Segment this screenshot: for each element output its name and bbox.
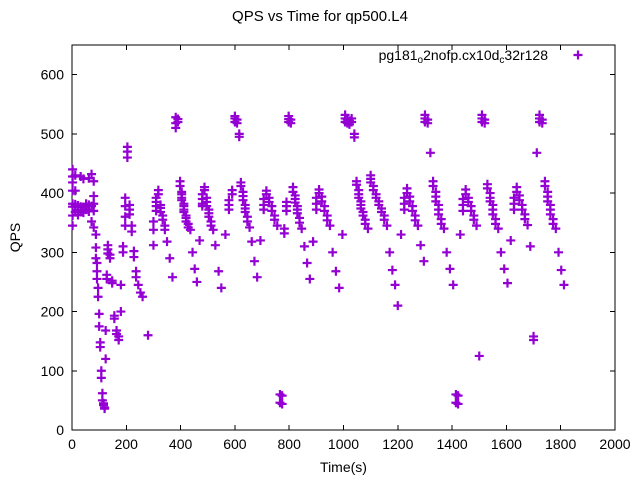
y-tick-label: 0 <box>56 422 64 438</box>
data-point <box>280 229 289 238</box>
x-tick-label: 800 <box>278 436 302 452</box>
data-point <box>101 354 110 363</box>
scatter-plot: 0200400600800100012001400160018002000 01… <box>0 0 640 480</box>
data-point <box>500 264 509 273</box>
data-point <box>214 267 223 276</box>
data-point <box>303 258 312 267</box>
data-point <box>116 280 125 289</box>
data-point <box>195 236 204 245</box>
y-tick-label: 200 <box>41 304 65 320</box>
x-tick-label: 0 <box>68 436 76 452</box>
data-point <box>426 148 435 157</box>
data-point <box>253 273 262 282</box>
y-tick-label: 400 <box>41 185 65 201</box>
data-point <box>461 185 470 194</box>
x-tick-label: 1400 <box>437 436 468 452</box>
data-point <box>192 277 201 286</box>
data-point <box>188 248 197 257</box>
x-tick-label: 200 <box>115 436 139 452</box>
data-point <box>129 253 138 262</box>
data-point <box>557 266 566 275</box>
data-point <box>496 248 505 257</box>
data-point <box>335 283 344 292</box>
data-point <box>532 148 541 157</box>
data-point <box>506 236 515 245</box>
data-point <box>397 230 406 239</box>
data-point <box>92 274 101 283</box>
data-point <box>176 181 185 190</box>
data-point <box>526 242 535 251</box>
data-point <box>190 264 199 273</box>
y-tick-label: 500 <box>41 126 65 142</box>
data-point <box>419 257 428 266</box>
data-point <box>256 236 265 245</box>
chart-figure: QPS vs Time for qp500.L4 020040060080010… <box>0 0 640 480</box>
data-point <box>97 373 106 382</box>
x-tick-label: 1000 <box>328 436 359 452</box>
data-point <box>132 273 141 282</box>
data-point <box>475 351 484 360</box>
legend-entry-label: pg181o2nofp.cx10dc32r128 <box>379 47 549 66</box>
data-point <box>416 241 425 250</box>
data-point <box>445 264 454 273</box>
data-point <box>456 230 465 239</box>
data-point <box>331 267 340 276</box>
data-point <box>512 183 521 192</box>
data-point-group <box>68 110 568 413</box>
data-point <box>385 248 394 257</box>
data-point <box>250 257 259 266</box>
data-point <box>123 142 132 151</box>
data-point <box>300 242 309 251</box>
data-point <box>338 230 347 239</box>
data-point <box>388 266 397 275</box>
data-point <box>92 258 101 267</box>
x-tick-label: 400 <box>169 436 193 452</box>
data-point <box>165 254 174 263</box>
data-point <box>449 280 458 289</box>
data-point <box>247 237 256 246</box>
y-tick-label: 100 <box>41 363 65 379</box>
data-point <box>328 248 337 257</box>
data-point <box>163 237 172 246</box>
data-point <box>168 273 177 282</box>
data-point <box>92 267 101 276</box>
data-point <box>221 230 230 239</box>
data-point <box>305 274 314 283</box>
data-point <box>391 280 400 289</box>
x-tick-label: 1800 <box>545 436 576 452</box>
data-point <box>217 283 226 292</box>
data-point <box>94 292 103 301</box>
x-tick-label: 1200 <box>382 436 413 452</box>
legend-marker-plus-icon <box>574 51 583 60</box>
x-tick-label: 1600 <box>491 436 522 452</box>
data-point <box>393 301 402 310</box>
data-point <box>149 225 158 234</box>
data-point <box>119 242 128 251</box>
data-point <box>68 221 77 230</box>
data-point <box>211 241 220 250</box>
data-point <box>89 192 98 201</box>
x-tick-label: 2000 <box>599 436 630 452</box>
legend-sample-marker <box>574 51 583 60</box>
data-point <box>123 153 132 162</box>
data-point <box>149 217 158 226</box>
data-point <box>309 237 318 246</box>
x-axis-title: Time(s) <box>320 459 367 475</box>
y-tick-label: 300 <box>41 244 65 260</box>
data-point <box>94 283 103 292</box>
data-point <box>96 343 105 352</box>
data-point <box>121 193 130 202</box>
data-point <box>91 243 100 252</box>
x-tick-label: 600 <box>223 436 247 452</box>
data-point <box>559 280 568 289</box>
data-point <box>149 241 158 250</box>
data-point <box>144 331 153 340</box>
legend: pg181o2nofp.cx10dc32r128 <box>379 47 583 66</box>
data-point <box>503 279 512 288</box>
data-point <box>95 309 104 318</box>
data-point <box>134 280 143 289</box>
y-tick-label: 600 <box>41 67 65 83</box>
data-point <box>127 227 136 236</box>
data-point <box>442 248 451 257</box>
data-point <box>403 184 412 193</box>
y-axis-title: QPS <box>7 223 23 253</box>
data-point <box>554 248 563 257</box>
